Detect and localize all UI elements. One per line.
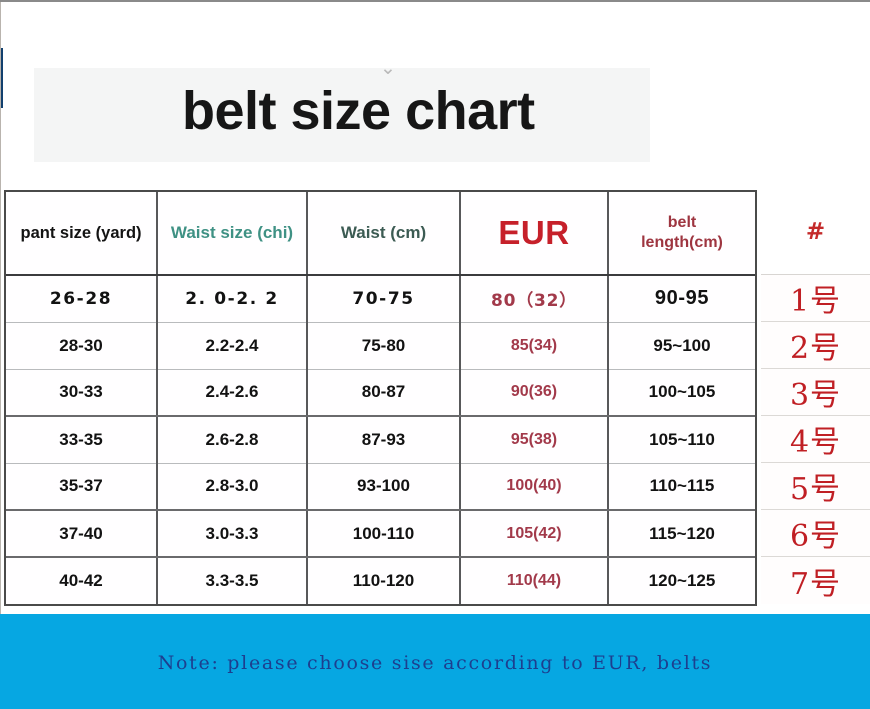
cell-eur: 95(38) xyxy=(460,416,608,463)
cell-waist-cm: 87-93 xyxy=(307,416,460,463)
cell-belt-length: 115~120 xyxy=(608,510,755,557)
cell-pant-size: 30-33 xyxy=(6,369,157,416)
table-row: 35-37 2.8-3.0 93-100 100(40) 110~115 xyxy=(6,463,755,510)
size-number-column: # 1号 2号 3号 4号 5号 6号 7号 xyxy=(761,190,870,604)
cell-waist-chi: 2.2-2.4 xyxy=(157,322,307,369)
note-text: Note: please choose sise according to EU… xyxy=(0,652,870,674)
cell-waist-cm: 70-75 xyxy=(307,275,460,322)
cell-eur: 80（32） xyxy=(460,275,608,322)
cell-size-number: 5号 xyxy=(761,463,870,510)
cell-pant-size: 35-37 xyxy=(6,463,157,510)
cell-waist-cm: 100-110 xyxy=(307,510,460,557)
top-divider xyxy=(0,0,870,2)
cell-waist-cm: 80-87 xyxy=(307,369,460,416)
belt-size-chart-page: ⌄ belt size chart pant size (yard) Waist… xyxy=(0,0,870,709)
column-header-eur: EUR xyxy=(460,192,608,275)
cell-belt-length: 105~110 xyxy=(608,416,755,463)
cell-waist-cm: 75-80 xyxy=(307,322,460,369)
table-body: 26-28 2. 0-2. 2 70-75 80（32） 90-95 28-30… xyxy=(6,275,755,604)
size-table-container: pant size (yard) Waist size (chi) Waist … xyxy=(4,190,757,606)
cell-waist-cm: 110-120 xyxy=(307,557,460,604)
cell-eur: 90(36) xyxy=(460,369,608,416)
note-banner: Note: please choose sise according to EU… xyxy=(0,614,870,709)
left-edge-marker xyxy=(1,48,3,108)
column-header-number: # xyxy=(761,190,870,275)
column-header-waist-cm: Waist (cm) xyxy=(307,192,460,275)
column-header-pant-size: pant size (yard) xyxy=(6,192,157,275)
table-row: 40-42 3.3-3.5 110-120 110(44) 120~125 xyxy=(6,557,755,604)
cell-size-number: 2号 xyxy=(761,322,870,369)
table-row: 37-40 3.0-3.3 100-110 105(42) 115~120 xyxy=(6,510,755,557)
cell-waist-chi: 2.6-2.8 xyxy=(157,416,307,463)
belt-header-line-1: belt xyxy=(609,213,755,233)
cell-size-number: 4号 xyxy=(761,416,870,463)
belt-header-line-2: length(cm) xyxy=(609,233,755,253)
column-header-waist-chi: Waist size (chi) xyxy=(157,192,307,275)
cell-waist-chi: 2.8-3.0 xyxy=(157,463,307,510)
cell-waist-cm: 93-100 xyxy=(307,463,460,510)
table-row: 33-35 2.6-2.8 87-93 95(38) 105~110 xyxy=(6,416,755,463)
size-table: pant size (yard) Waist size (chi) Waist … xyxy=(6,192,755,604)
cell-eur: 100(40) xyxy=(460,463,608,510)
cell-eur: 105(42) xyxy=(460,510,608,557)
cell-pant-size: 37-40 xyxy=(6,510,157,557)
cell-size-number: 7号 xyxy=(761,557,870,604)
cell-belt-length: 110~115 xyxy=(608,463,755,510)
chevron-down-icon: ⌄ xyxy=(372,58,404,78)
table-row: 26-28 2. 0-2. 2 70-75 80（32） 90-95 xyxy=(6,275,755,322)
cell-eur: 85(34) xyxy=(460,322,608,369)
cell-waist-chi: 3.3-3.5 xyxy=(157,557,307,604)
cell-pant-size: 33-35 xyxy=(6,416,157,463)
cell-size-number: 6号 xyxy=(761,510,870,557)
cell-belt-length: 120~125 xyxy=(608,557,755,604)
page-title: belt size chart xyxy=(182,80,652,142)
cell-pant-size: 40-42 xyxy=(6,557,157,604)
cell-belt-length: 100~105 xyxy=(608,369,755,416)
table-header: pant size (yard) Waist size (chi) Waist … xyxy=(6,192,755,275)
cell-waist-chi: 2.4-2.6 xyxy=(157,369,307,416)
cell-size-number: 3号 xyxy=(761,369,870,416)
table-row: 30-33 2.4-2.6 80-87 90(36) 100~105 xyxy=(6,369,755,416)
cell-waist-chi: 2. 0-2. 2 xyxy=(157,275,307,322)
cell-size-number: 1号 xyxy=(761,275,870,322)
cell-pant-size: 28-30 xyxy=(6,322,157,369)
cell-pant-size: 26-28 xyxy=(6,275,157,322)
cell-belt-length: 90-95 xyxy=(608,275,755,322)
column-header-belt-length: belt length(cm) xyxy=(608,192,755,275)
cell-belt-length: 95~100 xyxy=(608,322,755,369)
table-header-row: pant size (yard) Waist size (chi) Waist … xyxy=(6,192,755,275)
table-row: 28-30 2.2-2.4 75-80 85(34) 95~100 xyxy=(6,322,755,369)
cell-eur: 110(44) xyxy=(460,557,608,604)
cell-waist-chi: 3.0-3.3 xyxy=(157,510,307,557)
